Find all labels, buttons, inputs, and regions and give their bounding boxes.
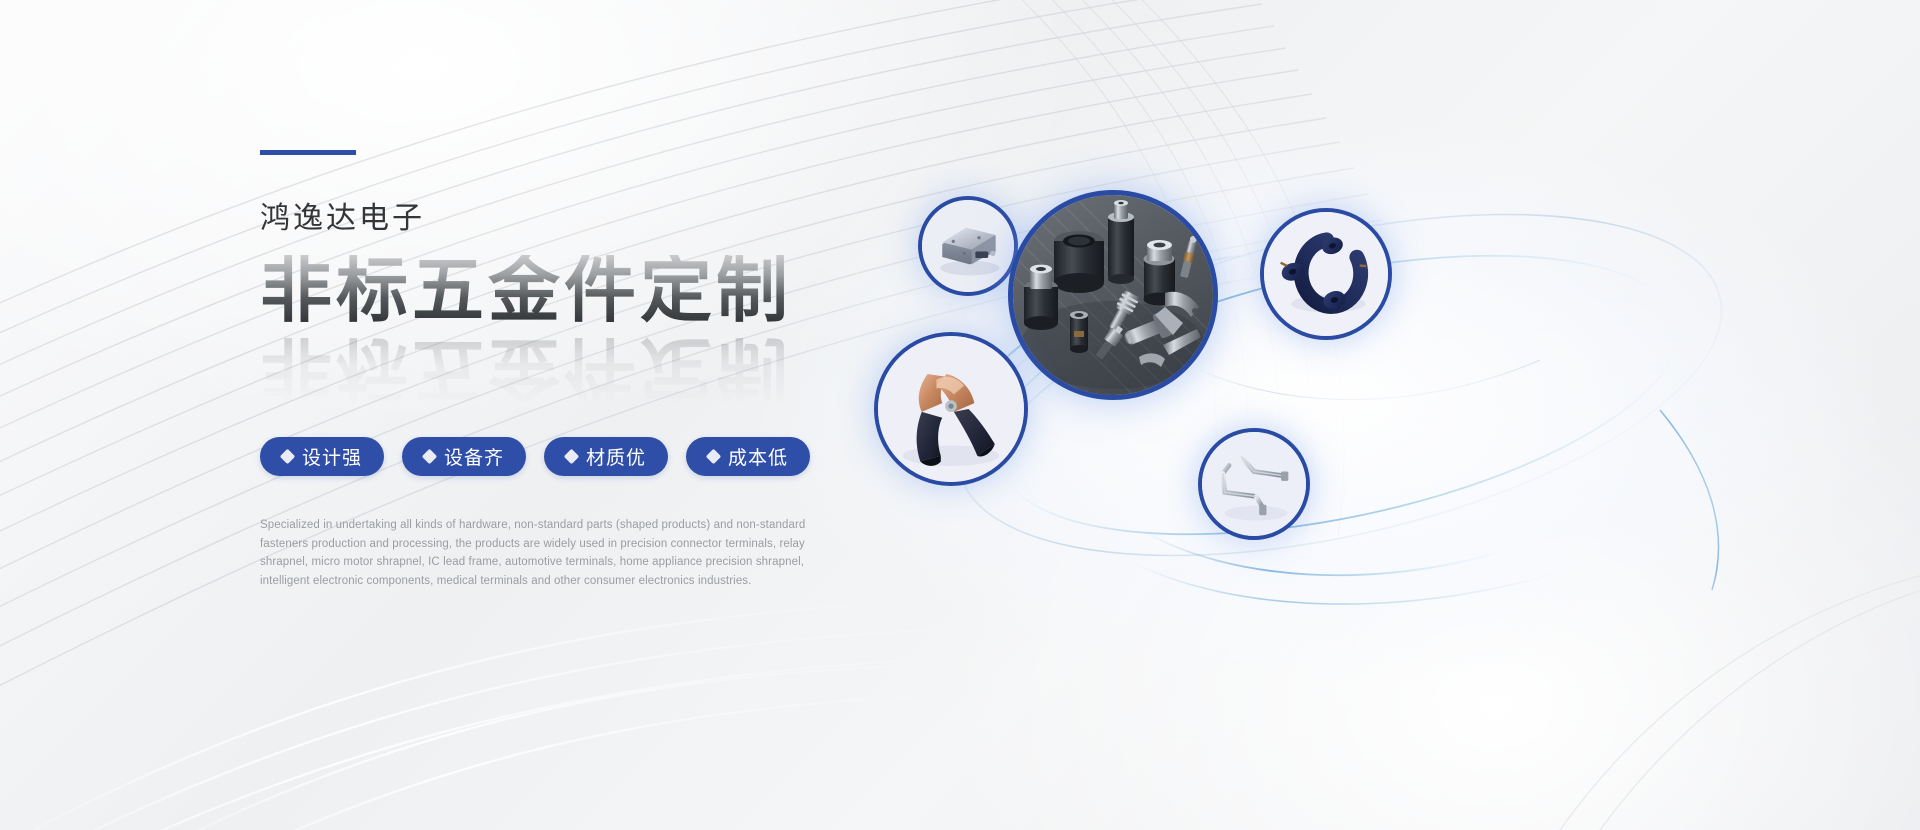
feature-badge-list: 设计强 设备齐 材质优 成本低 (260, 437, 900, 476)
product-node-precision-connector-parts[interactable] (1008, 190, 1218, 400)
product-node-battery-clamp[interactable] (874, 332, 1028, 486)
metal-enclosure-box-icon (922, 200, 1014, 292)
feature-badge-2[interactable]: 材质优 (544, 437, 668, 476)
bent-terminal-pins-icon (1202, 432, 1306, 536)
diamond-icon (706, 449, 722, 465)
product-node-bent-terminal-pins[interactable] (1198, 428, 1310, 540)
hero-text-block: 鸿逸达电子 非标五金件定制 非标五金件定制 设计强 设备齐 材质优 成本低 (260, 150, 900, 602)
page-title: 非标五金件定制 (260, 255, 900, 327)
battery-clamp-icon (878, 336, 1024, 482)
headline-group: 非标五金件定制 非标五金件定制 (260, 255, 900, 375)
diamond-icon (564, 449, 580, 465)
diamond-icon (422, 449, 438, 465)
feature-badge-label: 设计强 (302, 443, 362, 470)
feature-badge-label: 设备齐 (444, 443, 504, 470)
company-name: 鸿逸达电子 (260, 201, 900, 237)
product-node-retaining-ring[interactable] (1260, 208, 1392, 340)
hero-banner: 鸿逸达电子 非标五金件定制 非标五金件定制 设计强 设备齐 材质优 成本低 (0, 0, 1920, 830)
precision-connector-parts-icon (1013, 195, 1213, 395)
headline-reflection: 非标五金件定制 (260, 333, 792, 405)
accent-divider (260, 150, 356, 155)
diamond-icon (280, 449, 296, 465)
retaining-ring-icon (1264, 212, 1388, 336)
feature-badge-1[interactable]: 设备齐 (402, 437, 526, 476)
product-node-metal-enclosure-box[interactable] (918, 196, 1018, 296)
product-showcase-cluster (900, 160, 1780, 620)
feature-badge-label: 成本低 (728, 443, 788, 470)
feature-badge-label: 材质优 (586, 443, 646, 470)
company-description: Specialized in undertaking all kinds of … (260, 516, 830, 591)
feature-badge-3[interactable]: 成本低 (686, 437, 810, 476)
feature-badge-0[interactable]: 设计强 (260, 437, 384, 476)
